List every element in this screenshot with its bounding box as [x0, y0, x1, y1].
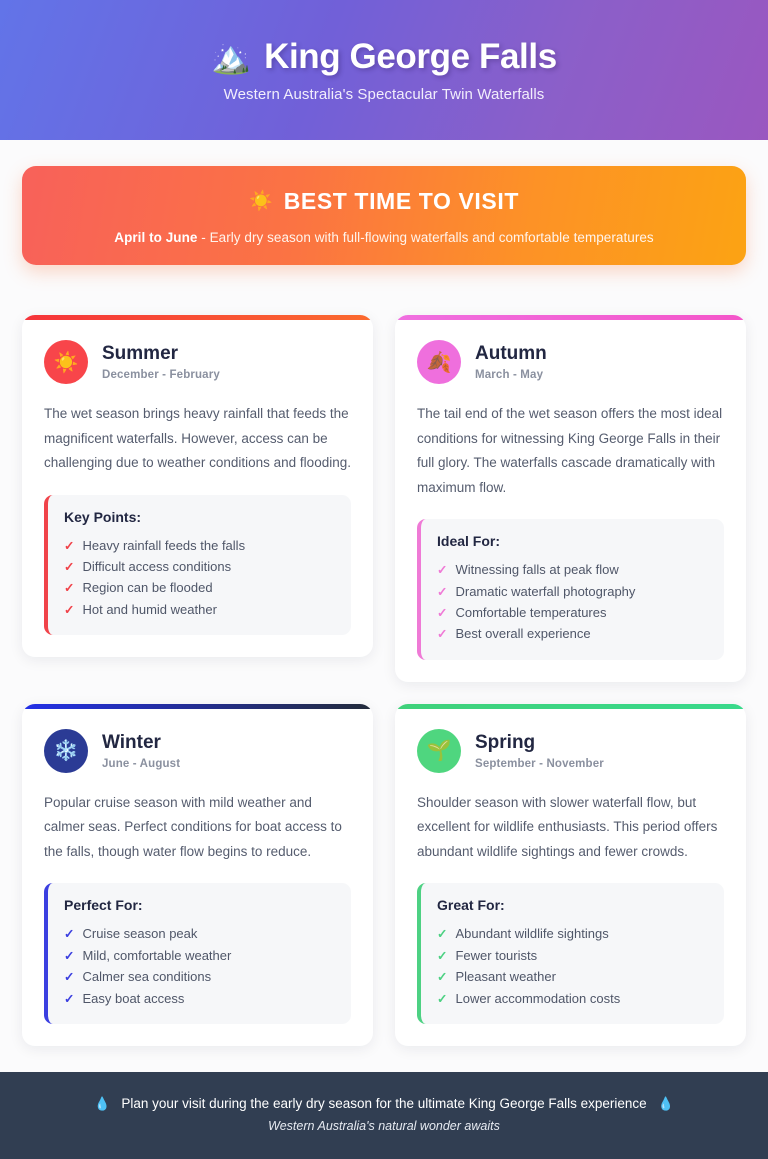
season-name: Winter — [102, 732, 180, 754]
card-header: 🌱 Spring September - November — [417, 729, 724, 773]
check-icon: ✓ — [437, 560, 447, 580]
list-item-label: Best overall experience — [455, 623, 590, 644]
points-title: Key Points: — [64, 509, 335, 525]
list-item-label: Mild, comfortable weather — [82, 945, 231, 966]
list-item-label: Pleasant weather — [455, 966, 555, 987]
points-list: ✓Cruise season peak✓Mild, comfortable we… — [64, 923, 335, 1009]
season-description: The wet season brings heavy rainfall tha… — [44, 402, 351, 476]
season-card-winter[interactable]: ❄️ Winter June - August Popular cruise s… — [22, 704, 373, 1046]
check-icon: ✓ — [64, 967, 74, 987]
water-drop-icon: 💧 — [94, 1096, 110, 1112]
check-icon: ✓ — [64, 536, 74, 556]
banner-subtitle: April to June - Early dry season with fu… — [42, 230, 726, 245]
season-months: March - May — [475, 369, 547, 381]
list-item-label: Easy boat access — [82, 988, 184, 1009]
list-item-label: Difficult access conditions — [82, 556, 231, 577]
list-item-label: Heavy rainfall feeds the falls — [82, 535, 245, 556]
list-item: ✓Dramatic waterfall photography — [437, 581, 708, 602]
list-item: ✓Witnessing falls at peak flow — [437, 559, 708, 580]
check-icon: ✓ — [64, 578, 74, 598]
banner-title-row: ☀️ BEST TIME TO VISIT — [42, 188, 726, 215]
season-description: The tail end of the wet season offers th… — [417, 402, 724, 500]
list-item-label: Witnessing falls at peak flow — [455, 559, 618, 580]
fallen-leaf-icon: 🍂 — [427, 350, 452, 375]
points-list: ✓Abundant wildlife sightings✓Fewer touri… — [437, 923, 708, 1009]
season-title-block: Summer December - February — [102, 343, 220, 381]
page-title-row: 🏔️ King George Falls — [211, 37, 557, 77]
best-time-banner: ☀️ BEST TIME TO VISIT April to June - Ea… — [22, 166, 746, 265]
list-item: ✓Abundant wildlife sightings — [437, 923, 708, 944]
season-name: Summer — [102, 343, 220, 365]
card-body: ❄️ Winter June - August Popular cruise s… — [22, 709, 373, 1024]
season-badge: 🌱 — [417, 729, 461, 773]
card-body: 🌱 Spring September - November Shoulder s… — [395, 709, 746, 1024]
snow-capped-mountain-icon: 🏔️ — [211, 41, 251, 73]
list-item: ✓Heavy rainfall feeds the falls — [64, 535, 335, 556]
water-drop-icon: 💧 — [658, 1096, 674, 1112]
list-item: ✓Fewer tourists — [437, 945, 708, 966]
list-item: ✓Difficult access conditions — [64, 556, 335, 577]
season-points-box: Key Points: ✓Heavy rainfall feeds the fa… — [44, 495, 351, 636]
check-icon: ✓ — [437, 603, 447, 623]
season-months: June - August — [102, 758, 180, 770]
list-item: ✓Best overall experience — [437, 623, 708, 644]
list-item-label: Cruise season peak — [82, 923, 197, 944]
seedling-icon: 🌱 — [427, 738, 452, 763]
list-item: ✓Pleasant weather — [437, 966, 708, 987]
check-icon: ✓ — [437, 946, 447, 966]
season-description: Popular cruise season with mild weather … — [44, 791, 351, 865]
list-item: ✓Mild, comfortable weather — [64, 945, 335, 966]
points-title: Ideal For: — [437, 533, 708, 549]
season-card-autumn[interactable]: 🍂 Autumn March - May The tail end of the… — [395, 315, 746, 682]
season-title-block: Winter June - August — [102, 732, 180, 770]
season-name: Autumn — [475, 343, 547, 365]
list-item: ✓Cruise season peak — [64, 923, 335, 944]
check-icon: ✓ — [64, 946, 74, 966]
season-title-block: Autumn March - May — [475, 343, 547, 381]
season-description: Shoulder season with slower waterfall fl… — [417, 791, 724, 865]
season-months: September - November — [475, 758, 604, 770]
list-item-label: Comfortable temperatures — [455, 602, 606, 623]
season-badge: ❄️ — [44, 729, 88, 773]
check-icon: ✓ — [437, 624, 447, 644]
list-item-label: Fewer tourists — [455, 945, 537, 966]
list-item-label: Abundant wildlife sightings — [455, 923, 608, 944]
page-header: 🏔️ King George Falls Western Australia's… — [0, 0, 768, 140]
list-item-label: Lower accommodation costs — [455, 988, 620, 1009]
season-card-spring[interactable]: 🌱 Spring September - November Shoulder s… — [395, 704, 746, 1046]
points-list: ✓Heavy rainfall feeds the falls✓Difficul… — [64, 535, 335, 621]
check-icon: ✓ — [437, 582, 447, 602]
season-title-block: Spring September - November — [475, 732, 604, 770]
footer-primary-line: 💧 Plan your visit during the early dry s… — [20, 1096, 748, 1112]
banner-period: April to June — [114, 230, 197, 245]
season-points-box: Ideal For: ✓Witnessing falls at peak flo… — [417, 519, 724, 660]
list-item-label: Dramatic waterfall photography — [455, 581, 635, 602]
points-list: ✓Witnessing falls at peak flow✓Dramatic … — [437, 559, 708, 645]
card-body: 🍂 Autumn March - May The tail end of the… — [395, 320, 746, 660]
season-name: Spring — [475, 732, 604, 754]
list-item: ✓Easy boat access — [64, 988, 335, 1009]
check-icon: ✓ — [437, 989, 447, 1009]
list-item-label: Region can be flooded — [82, 577, 212, 598]
list-item: ✓Hot and humid weather — [64, 599, 335, 620]
banner-title: BEST TIME TO VISIT — [284, 188, 519, 215]
points-title: Great For: — [437, 897, 708, 913]
list-item: ✓Comfortable temperatures — [437, 602, 708, 623]
card-header: ❄️ Winter June - August — [44, 729, 351, 773]
page-footer: 💧 Plan your visit during the early dry s… — [0, 1072, 768, 1159]
best-time-banner-wrap: ☀️ BEST TIME TO VISIT April to June - Ea… — [0, 140, 768, 265]
list-item: ✓Calmer sea conditions — [64, 966, 335, 987]
snowflake-icon: ❄️ — [54, 738, 79, 763]
check-icon: ✓ — [64, 989, 74, 1009]
check-icon: ✓ — [437, 924, 447, 944]
sun-icon: ☀️ — [54, 350, 79, 375]
check-icon: ✓ — [64, 600, 74, 620]
season-badge: ☀️ — [44, 340, 88, 384]
banner-separator: - — [197, 230, 209, 245]
card-header: 🍂 Autumn March - May — [417, 340, 724, 384]
season-card-summer[interactable]: ☀️ Summer December - February The wet se… — [22, 315, 373, 657]
list-item: ✓Region can be flooded — [64, 577, 335, 598]
footer-tagline: Western Australia's natural wonder await… — [20, 1119, 748, 1133]
list-item-label: Hot and humid weather — [82, 599, 216, 620]
check-icon: ✓ — [64, 557, 74, 577]
page-subtitle: Western Australia's Spectacular Twin Wat… — [224, 86, 545, 103]
page-title: King George Falls — [264, 37, 557, 77]
season-grid: ☀️ Summer December - February The wet se… — [0, 265, 768, 1072]
points-title: Perfect For: — [64, 897, 335, 913]
season-points-box: Perfect For: ✓Cruise season peak✓Mild, c… — [44, 883, 351, 1024]
card-header: ☀️ Summer December - February — [44, 340, 351, 384]
list-item-label: Calmer sea conditions — [82, 966, 211, 987]
season-months: December - February — [102, 369, 220, 381]
banner-description: Early dry season with full-flowing water… — [210, 230, 654, 245]
check-icon: ✓ — [64, 924, 74, 944]
sun-icon: ☀️ — [249, 192, 273, 211]
check-icon: ✓ — [437, 967, 447, 987]
season-points-box: Great For: ✓Abundant wildlife sightings✓… — [417, 883, 724, 1024]
season-badge: 🍂 — [417, 340, 461, 384]
list-item: ✓Lower accommodation costs — [437, 988, 708, 1009]
footer-message: Plan your visit during the early dry sea… — [121, 1096, 646, 1111]
card-body: ☀️ Summer December - February The wet se… — [22, 320, 373, 635]
